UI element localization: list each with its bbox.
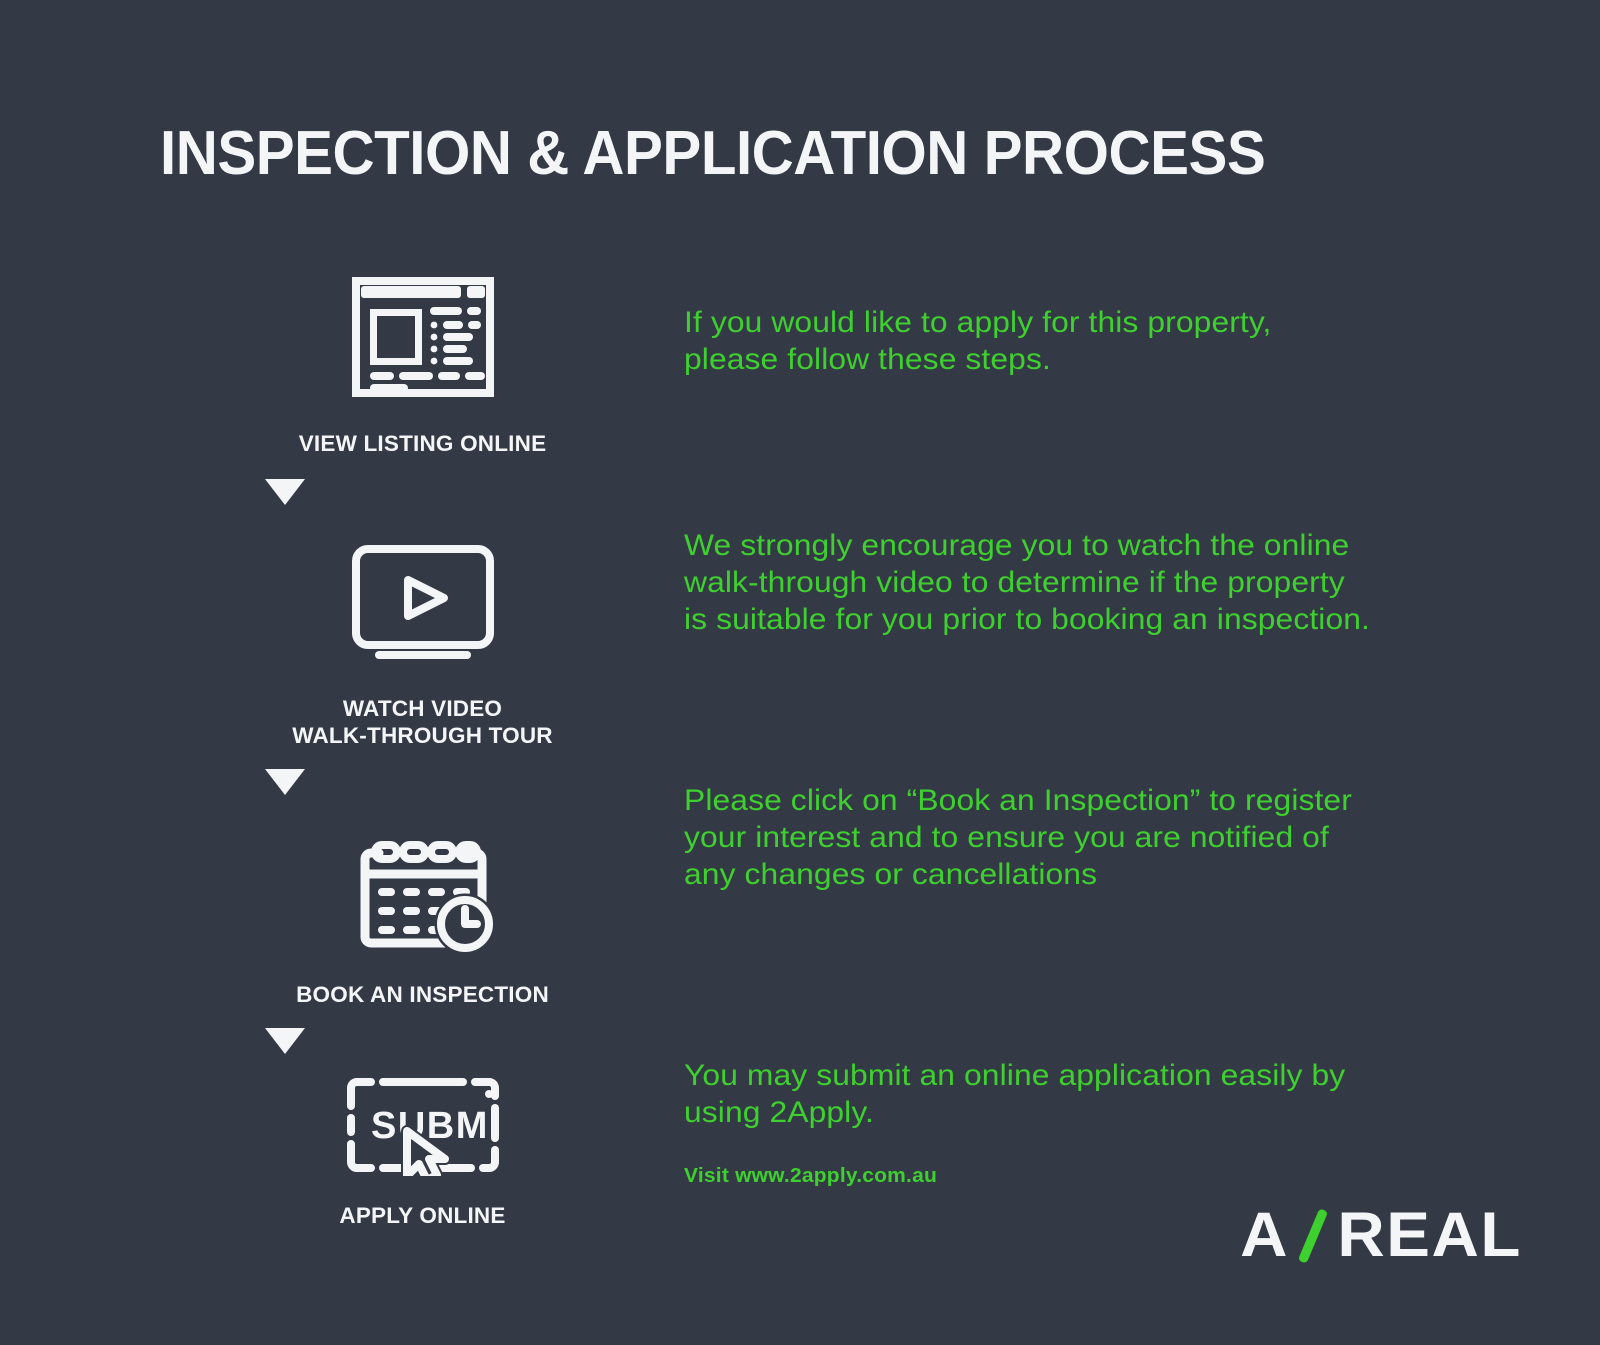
- copy-view-listing: If you would like to apply for this prop…: [684, 304, 1426, 378]
- copy-book-inspection: Please click on “Book an Inspection” to …: [684, 782, 1458, 893]
- copy-watch-video: We strongly encourage you to watch the o…: [684, 527, 1468, 638]
- step-book-inspection: BOOK AN INSPECTION: [265, 813, 580, 1008]
- visit-link[interactable]: Visit www.2apply.com.au: [684, 1163, 937, 1189]
- step-label: APPLY ONLINE: [339, 1202, 505, 1229]
- video-play-screen-icon: [350, 527, 496, 677]
- calendar-clock-icon: [349, 813, 497, 963]
- step-view-listing-online: VIEW LISTING ONLINE: [265, 262, 580, 457]
- step-watch-video: WATCH VIDEO WALK-THROUGH TOUR: [265, 527, 580, 749]
- step-label: WATCH VIDEO WALK-THROUGH TOUR: [292, 695, 552, 749]
- slash-divider-icon: [1295, 1208, 1330, 1264]
- step-apply-online: SUBMIT APPLY ONLINE: [265, 1072, 580, 1229]
- copy-apply-online: You may submit an online application eas…: [684, 1057, 1458, 1131]
- step-label: BOOK AN INSPECTION: [296, 981, 549, 1008]
- flow-arrow-down-icon: [265, 479, 305, 505]
- step-label: VIEW LISTING ONLINE: [299, 430, 547, 457]
- submit-icon-text: SUBMIT: [371, 1105, 501, 1147]
- browser-listing-icon: [348, 262, 498, 412]
- logo-word-real: REAL: [1337, 1204, 1522, 1267]
- brand-logo: A REAL: [1240, 1204, 1522, 1267]
- flow-arrow-down-icon: [265, 769, 305, 795]
- page-title: INSPECTION & APPLICATION PROCESS: [160, 118, 1363, 190]
- flow-arrow-down-icon: [265, 1028, 305, 1054]
- process-flow: VIEW LISTING ONLINE WATCH VIDEO WALK-THR…: [265, 262, 580, 1229]
- logo-letter-a: A: [1240, 1204, 1287, 1267]
- submit-button-cursor-icon: SUBMIT: [345, 1072, 501, 1180]
- infographic-page: INSPECTION & APPLICATION PROCESS: [0, 0, 1600, 1345]
